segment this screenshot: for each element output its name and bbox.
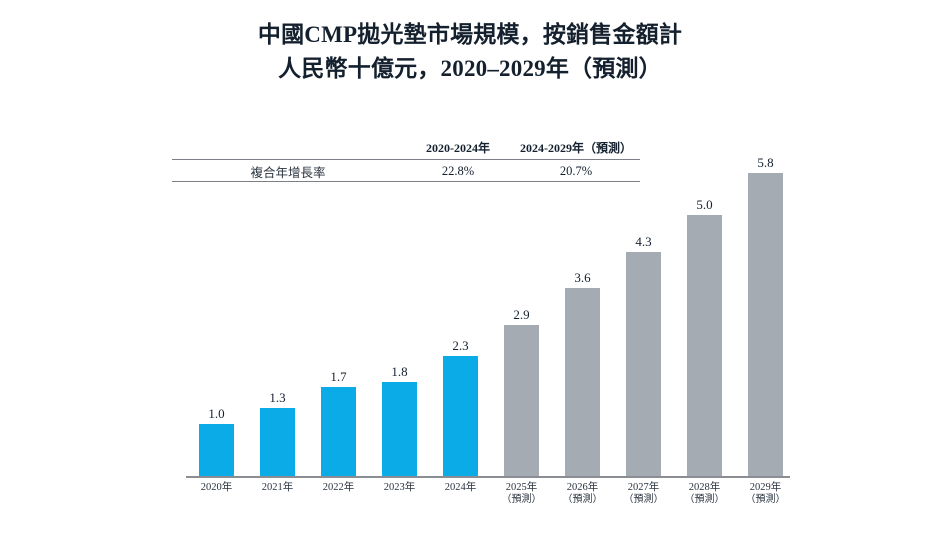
x-tick-forecast-note: （預測）: [735, 494, 796, 506]
x-tick-year: 2029年: [750, 482, 782, 493]
bar-forecast[interactable]: [687, 215, 722, 476]
x-tick-year: 2022年: [323, 482, 355, 493]
x-tick-year: 2021年: [262, 482, 294, 493]
x-tick-year: 2026年: [567, 482, 599, 493]
bar-forecast[interactable]: [748, 173, 783, 476]
bar-actual[interactable]: [443, 356, 478, 476]
x-tick-forecast-note: （預測）: [613, 494, 674, 506]
bar-actual[interactable]: [382, 382, 417, 476]
bar-slot: 4.3: [613, 160, 674, 476]
x-tick-forecast-note: （預測）: [674, 494, 735, 506]
bar-value-label: 2.3: [430, 338, 491, 353]
x-axis-tick-label: 2029年（預測）: [735, 482, 796, 506]
bar-value-label: 1.7: [308, 369, 369, 384]
chart-title: 中國CMP拋光墊市場規模，按銷售金額計 人民幣十億元，2020–2029年（預測…: [0, 18, 940, 86]
bar-value-label: 1.8: [369, 364, 430, 379]
bar-value-label: 3.6: [552, 270, 613, 285]
x-tick-year: 2020年: [201, 482, 233, 493]
x-tick-year: 2024年: [445, 482, 477, 493]
chart-title-line-1: 中國CMP拋光墊市場規模，按銷售金額計: [0, 18, 940, 52]
bar-slot: 3.6: [552, 160, 613, 476]
x-axis-line: [186, 476, 790, 478]
x-axis-tick-label: 2021年: [247, 482, 308, 494]
bar-slot: 1.0: [186, 160, 247, 476]
x-axis-tick-label: 2026年（預測）: [552, 482, 613, 506]
bar-actual[interactable]: [260, 408, 295, 476]
x-tick-year: 2025年: [506, 482, 538, 493]
table-header-period-2: 2024-2029年（預測）: [512, 139, 640, 156]
bar-value-label: 5.8: [735, 155, 796, 170]
bar-value-label: 1.0: [186, 406, 247, 421]
table-header-row: 2020-2024年 2024-2029年（預測）: [172, 136, 640, 158]
bar-actual[interactable]: [199, 424, 234, 476]
x-tick-year: 2028年: [689, 482, 721, 493]
bar-slot: 1.8: [369, 160, 430, 476]
bar-value-label: 1.3: [247, 390, 308, 405]
bar-slot: 1.7: [308, 160, 369, 476]
x-axis-tick-label: 2028年（預測）: [674, 482, 735, 506]
x-axis-tick-label: 2027年（預測）: [613, 482, 674, 506]
bar-slot: 2.3: [430, 160, 491, 476]
bar-forecast[interactable]: [565, 288, 600, 476]
x-axis-labels: 2020年2021年2022年2023年2024年2025年（預測）2026年（…: [186, 482, 790, 522]
x-axis-tick-label: 2025年（預測）: [491, 482, 552, 506]
bar-slot: 5.8: [735, 160, 796, 476]
bar-forecast[interactable]: [626, 252, 661, 476]
x-tick-year: 2027年: [628, 482, 660, 493]
bar-actual[interactable]: [321, 387, 356, 476]
chart-title-line-2: 人民幣十億元，2020–2029年（預測）: [0, 52, 940, 86]
bar-forecast[interactable]: [504, 325, 539, 476]
x-tick-forecast-note: （預測）: [491, 494, 552, 506]
bar-value-label: 5.0: [674, 197, 735, 212]
bar-chart-plot-area: 1.01.31.71.82.32.93.64.35.05.8: [186, 160, 790, 478]
x-axis-tick-label: 2020年: [186, 482, 247, 494]
bar-slot: 1.3: [247, 160, 308, 476]
bar-value-label: 2.9: [491, 307, 552, 322]
x-axis-tick-label: 2023年: [369, 482, 430, 494]
bar-value-label: 4.3: [613, 234, 674, 249]
x-tick-forecast-note: （預測）: [552, 494, 613, 506]
bar-slot: 5.0: [674, 160, 735, 476]
x-tick-year: 2023年: [384, 482, 416, 493]
table-header-period-1: 2020-2024年: [404, 139, 512, 156]
x-axis-tick-label: 2024年: [430, 482, 491, 494]
x-axis-tick-label: 2022年: [308, 482, 369, 494]
bar-slot: 2.9: [491, 160, 552, 476]
